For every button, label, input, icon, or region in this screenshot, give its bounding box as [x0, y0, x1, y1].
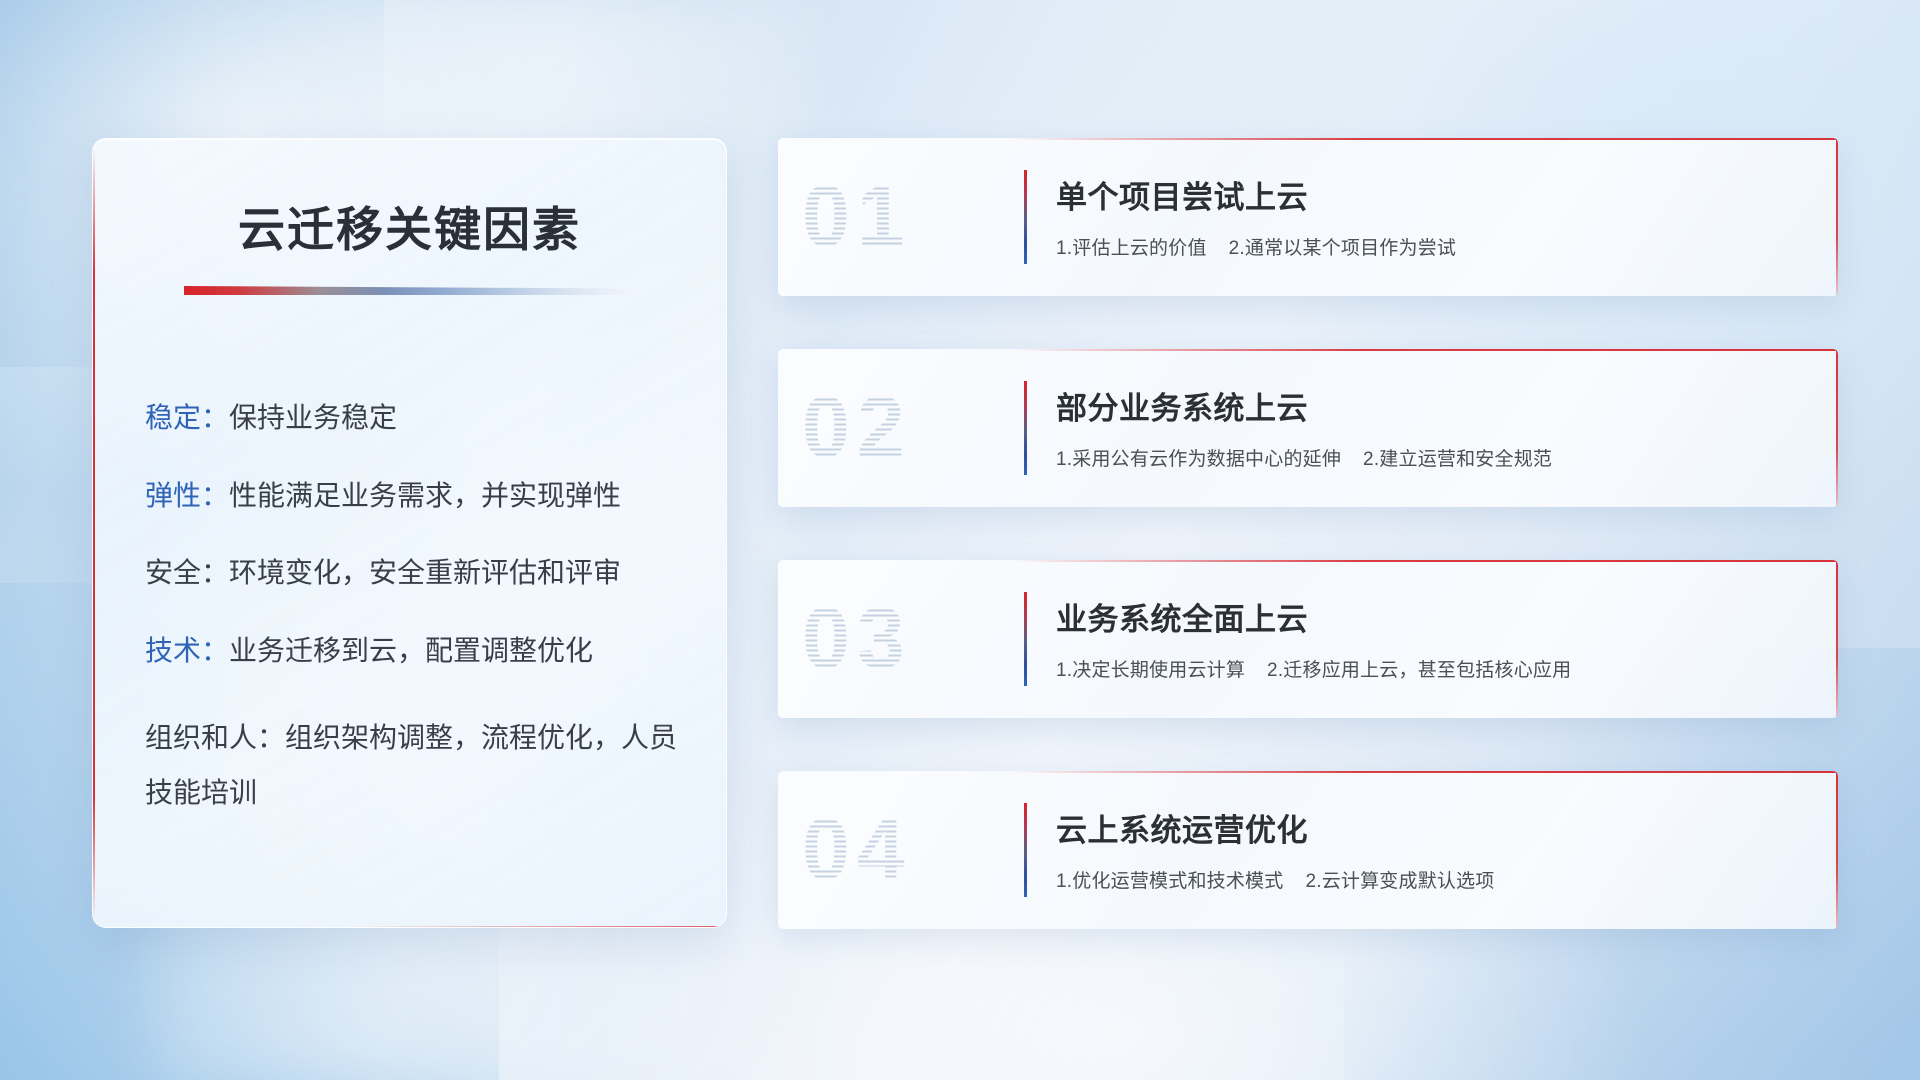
step-body: 云上系统运营优化1.优化运营模式和技术模式2.云计算变成默认选项 [1056, 805, 1802, 893]
step-number: 01 [802, 168, 912, 267]
step-description: 1.决定长期使用云计算2.迁移应用上云，甚至包括核心应用 [1056, 655, 1802, 682]
key-factor-text: 业务迁移到云，配置调整优化 [229, 635, 593, 666]
step-divider-bar [1024, 170, 1027, 264]
panel-title: 云迁移关键因素 [93, 191, 726, 260]
title-underline-bar [184, 286, 636, 295]
migration-steps-list: 01单个项目尝试上云1.评估上云的价值2.通常以某个项目作为尝试02部分业务系统… [778, 138, 1838, 982]
step-divider-bar [1024, 592, 1027, 686]
step-divider-bar [1024, 803, 1027, 897]
step-description-item-1: 1.优化运营模式和技术模式 [1056, 871, 1283, 892]
key-factor-label: 组织和人： [145, 722, 285, 753]
step-description-item-2: 2.建立运营和安全规范 [1363, 449, 1552, 470]
step-number: 03 [802, 590, 912, 689]
key-factors-list: 稳定：保持业务稳定弹性：性能满足业务需求，并实现弹性安全：环境变化，安全重新评估… [93, 401, 726, 821]
key-factor-text: 环境变化，安全重新评估和评审 [229, 557, 621, 588]
step-description-item-1: 1.评估上云的价值 [1056, 238, 1207, 259]
step-divider-bar [1024, 381, 1027, 475]
step-number: 02 [802, 379, 912, 478]
step-description-item-1: 1.决定长期使用云计算 [1056, 660, 1245, 681]
step-title: 云上系统运营优化 [1056, 805, 1802, 850]
migration-step-card[interactable]: 02部分业务系统上云1.采用公有云作为数据中心的延伸2.建立运营和安全规范 [778, 349, 1838, 507]
key-factor-text: 保持业务稳定 [229, 402, 397, 433]
step-title: 业务系统全面上云 [1056, 594, 1802, 639]
step-description-item-2: 2.云计算变成默认选项 [1305, 871, 1494, 892]
key-factor-text: 性能满足业务需求，并实现弹性 [229, 480, 621, 511]
step-title: 单个项目尝试上云 [1056, 172, 1802, 217]
step-description-item-2: 2.迁移应用上云，甚至包括核心应用 [1267, 660, 1571, 681]
step-description-item-2: 2.通常以某个项目作为尝试 [1229, 238, 1456, 259]
key-factor-row: 技术：业务迁移到云，配置调整优化 [145, 634, 680, 668]
key-factor-label: 安全： [145, 557, 229, 588]
step-number: 04 [802, 801, 912, 900]
step-description: 1.评估上云的价值2.通常以某个项目作为尝试 [1056, 233, 1802, 260]
key-factor-row: 稳定：保持业务稳定 [145, 401, 680, 435]
key-factor-row: 组织和人：组织架构调整，流程优化，人员技能培训 [145, 711, 680, 820]
step-description: 1.采用公有云作为数据中心的延伸2.建立运营和安全规范 [1056, 444, 1802, 471]
migration-step-card[interactable]: 03业务系统全面上云1.决定长期使用云计算2.迁移应用上云，甚至包括核心应用 [778, 560, 1838, 718]
key-factor-row: 安全：环境变化，安全重新评估和评审 [145, 556, 680, 590]
step-description: 1.优化运营模式和技术模式2.云计算变成默认选项 [1056, 866, 1802, 893]
key-factor-row: 弹性：性能满足业务需求，并实现弹性 [145, 479, 680, 513]
key-factor-label: 稳定： [145, 402, 229, 433]
step-body: 单个项目尝试上云1.评估上云的价值2.通常以某个项目作为尝试 [1056, 172, 1802, 260]
migration-step-card[interactable]: 04云上系统运营优化1.优化运营模式和技术模式2.云计算变成默认选项 [778, 771, 1838, 929]
key-factor-label: 弹性： [145, 480, 229, 511]
step-body: 部分业务系统上云1.采用公有云作为数据中心的延伸2.建立运营和安全规范 [1056, 383, 1802, 471]
migration-step-card[interactable]: 01单个项目尝试上云1.评估上云的价值2.通常以某个项目作为尝试 [778, 138, 1838, 296]
key-factor-label: 技术： [145, 635, 229, 666]
step-title: 部分业务系统上云 [1056, 383, 1802, 428]
key-factors-panel: 云迁移关键因素 稳定：保持业务稳定弹性：性能满足业务需求，并实现弹性安全：环境变… [92, 138, 727, 928]
step-body: 业务系统全面上云1.决定长期使用云计算2.迁移应用上云，甚至包括核心应用 [1056, 594, 1802, 682]
step-description-item-1: 1.采用公有云作为数据中心的延伸 [1056, 449, 1341, 470]
